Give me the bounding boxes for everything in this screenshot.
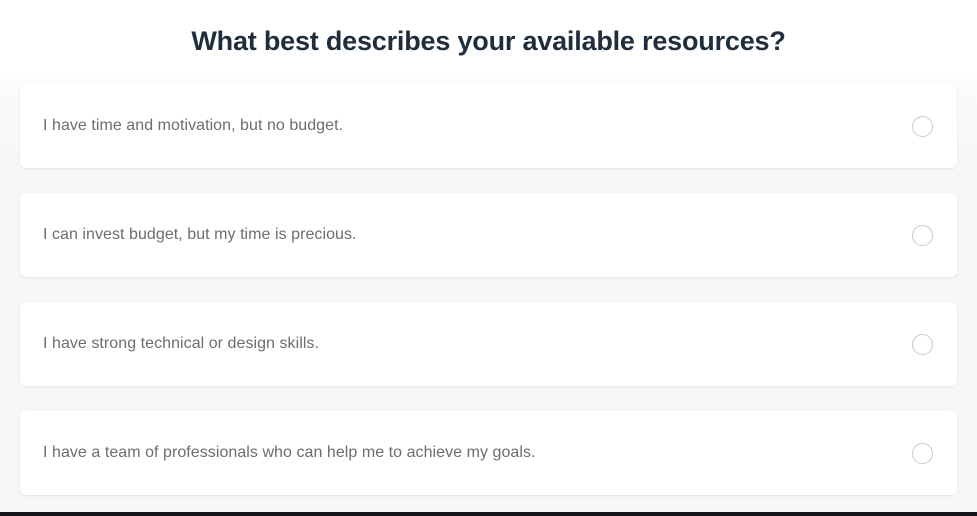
bottom-bar	[0, 512, 977, 516]
option-card-3[interactable]: I have strong technical or design skills…	[20, 302, 957, 386]
options-list: I have time and motivation, but no budge…	[20, 84, 957, 516]
quiz-page: What best describes your available resou…	[0, 0, 977, 516]
radio-button-icon-2[interactable]	[912, 225, 933, 246]
page-title: What best describes your available resou…	[0, 22, 977, 60]
option-label-2: I can invest budget, but my time is prec…	[20, 224, 357, 246]
option-card-4[interactable]: I have a team of professionals who can h…	[20, 411, 957, 495]
radio-button-icon-4[interactable]	[912, 443, 933, 464]
radio-button-icon-3[interactable]	[912, 334, 933, 355]
option-label-4: I have a team of professionals who can h…	[20, 442, 536, 464]
option-card-1[interactable]: I have time and motivation, but no budge…	[20, 84, 957, 168]
option-label-3: I have strong technical or design skills…	[20, 333, 319, 355]
option-card-2[interactable]: I can invest budget, but my time is prec…	[20, 193, 957, 277]
option-label-1: I have time and motivation, but no budge…	[20, 115, 343, 137]
radio-button-icon-1[interactable]	[912, 116, 933, 137]
